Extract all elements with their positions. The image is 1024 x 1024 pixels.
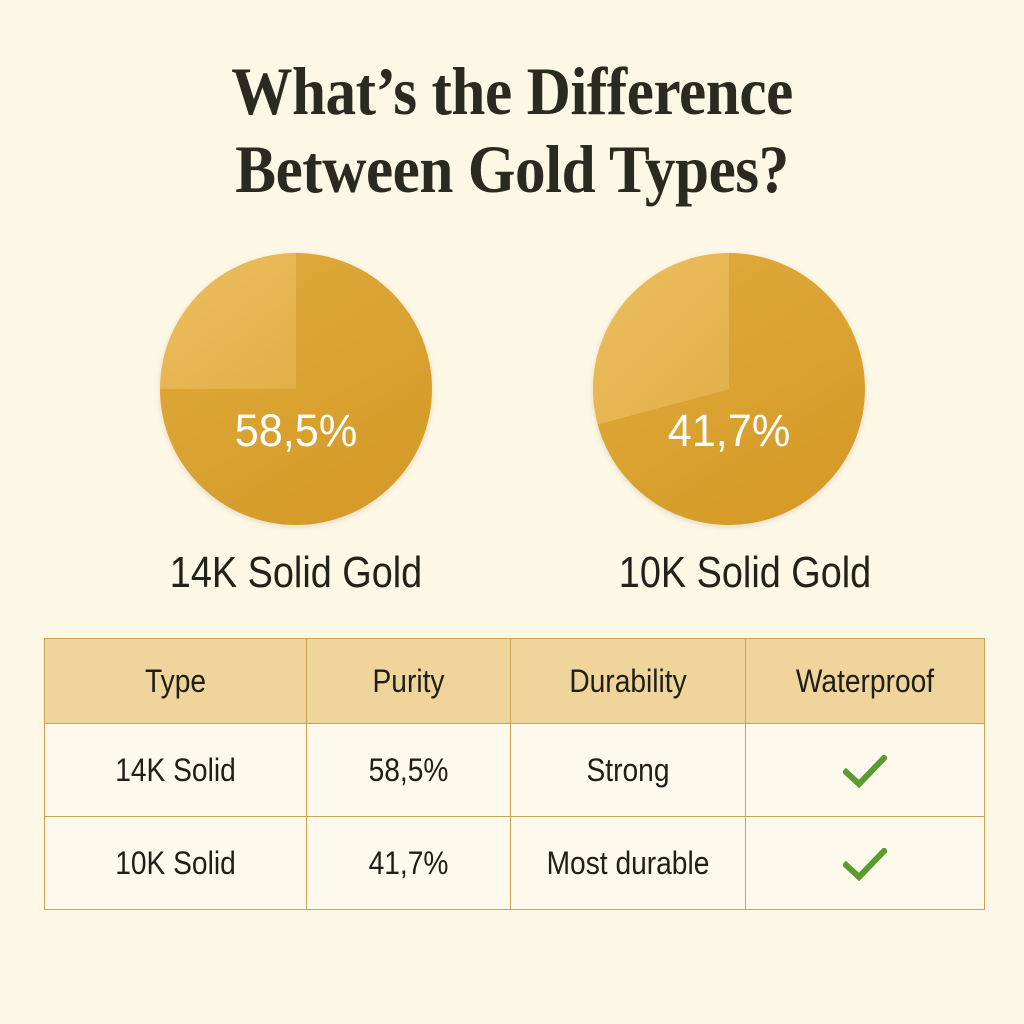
table-body: 14K Solid 58,5% Strong bbox=[45, 724, 985, 910]
cell-durability-label: Strong bbox=[525, 752, 731, 789]
cell-type-label: 10K Solid bbox=[61, 845, 291, 882]
pie-chart-14k: 58,5% bbox=[160, 253, 432, 525]
column-header-purity-label: Purity bbox=[319, 663, 498, 700]
title-line-2: Between Gold Types? bbox=[51, 130, 973, 208]
pie-value-14k: 58,5% bbox=[165, 405, 426, 457]
cell-durability: Most durable bbox=[511, 817, 746, 910]
table-header-row: Type Purity Durability Waterproof bbox=[45, 639, 985, 724]
table-header: Type Purity Durability Waterproof bbox=[45, 639, 985, 724]
cell-purity-label: 41,7% bbox=[319, 845, 498, 882]
cell-type: 14K Solid bbox=[45, 724, 307, 817]
cell-purity: 58,5% bbox=[307, 724, 511, 817]
pie-caption-14k: 14K Solid Gold bbox=[111, 548, 481, 598]
page-title: What’s the Difference Between Gold Types… bbox=[0, 52, 1024, 208]
table-row: 14K Solid 58,5% Strong bbox=[45, 724, 985, 817]
column-header-waterproof-label: Waterproof bbox=[760, 663, 969, 700]
title-line-1: What’s the Difference bbox=[51, 52, 973, 130]
table-row: 10K Solid 41,7% Most durable bbox=[45, 817, 985, 910]
column-header-type-label: Type bbox=[61, 663, 291, 700]
infographic-canvas: What’s the Difference Between Gold Types… bbox=[0, 0, 1024, 1024]
cell-waterproof bbox=[746, 817, 985, 910]
comparison-table: Type Purity Durability Waterproof bbox=[44, 638, 985, 910]
pie-chart-icon bbox=[593, 253, 865, 525]
cell-waterproof bbox=[746, 724, 985, 817]
comparison-table-wrapper: Type Purity Durability Waterproof bbox=[44, 638, 980, 910]
check-icon bbox=[843, 848, 887, 882]
column-header-durability: Durability bbox=[511, 639, 746, 724]
pie-value-10k: 41,7% bbox=[598, 405, 859, 457]
cell-durability-label: Most durable bbox=[525, 845, 731, 882]
column-header-purity: Purity bbox=[307, 639, 511, 724]
cell-type: 10K Solid bbox=[45, 817, 307, 910]
cell-purity-label: 58,5% bbox=[319, 752, 498, 789]
pie-chart-row: 58,5% 41,7% bbox=[0, 253, 1024, 533]
check-icon bbox=[843, 755, 887, 789]
pie-chart-icon bbox=[160, 253, 432, 525]
cell-purity: 41,7% bbox=[307, 817, 511, 910]
cell-type-label: 14K Solid bbox=[61, 752, 291, 789]
column-header-type: Type bbox=[45, 639, 307, 724]
column-header-durability-label: Durability bbox=[525, 663, 731, 700]
column-header-waterproof: Waterproof bbox=[746, 639, 985, 724]
pie-chart-10k: 41,7% bbox=[593, 253, 865, 525]
pie-caption-row: 14K Solid Gold 10K Solid Gold bbox=[0, 548, 1024, 608]
pie-caption-10k: 10K Solid Gold bbox=[560, 548, 930, 598]
cell-durability: Strong bbox=[511, 724, 746, 817]
